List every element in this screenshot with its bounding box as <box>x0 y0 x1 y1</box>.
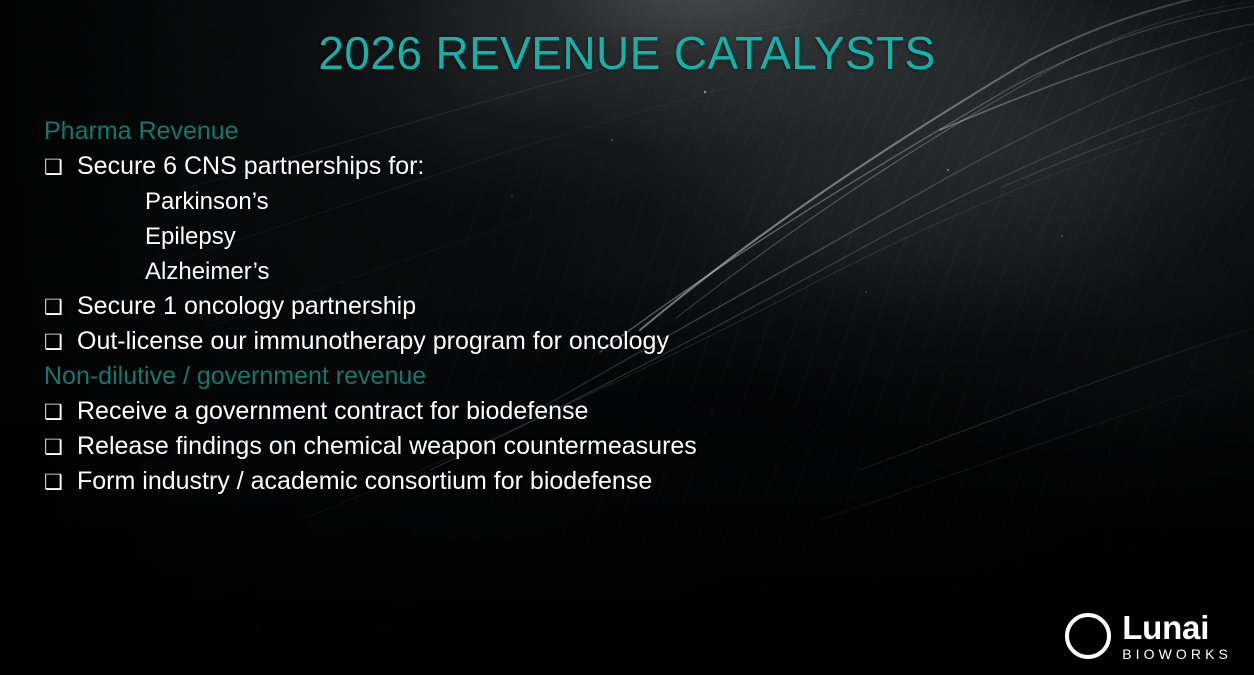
checkbox-square-icon: ❑ <box>44 465 77 500</box>
bullet-item: ❑ Receive a government contract for biod… <box>44 394 904 429</box>
company-logo: Lunai BIOWORKS <box>1065 611 1232 661</box>
section-heading-pharma-revenue: Pharma Revenue <box>44 114 904 149</box>
bullet-label: Receive a government contract for biodef… <box>77 394 588 429</box>
sub-item: Epilepsy <box>44 219 904 254</box>
checkbox-square-icon: ❑ <box>44 395 77 430</box>
logo-company-name: Lunai <box>1122 611 1209 644</box>
checkbox-square-icon: ❑ <box>44 325 77 360</box>
checkbox-square-icon: ❑ <box>44 430 77 465</box>
slide-title: 2026 REVENUE CATALYSTS <box>0 26 1254 80</box>
logo-ring-icon <box>1065 613 1111 659</box>
bullet-label: Secure 6 CNS partnerships for: <box>77 149 424 184</box>
bullet-label: Secure 1 oncology partnership <box>77 289 416 324</box>
presentation-slide: 2026 REVENUE CATALYSTS Pharma Revenue ❑ … <box>0 0 1254 675</box>
sub-item: Parkinson’s <box>44 184 904 219</box>
checkbox-square-icon: ❑ <box>44 290 77 325</box>
checkbox-square-icon: ❑ <box>44 150 77 185</box>
bullet-label: Form industry / academic consortium for … <box>77 464 652 499</box>
bullet-label: Out-license our immunotherapy program fo… <box>77 324 669 359</box>
logo-company-subtitle: BIOWORKS <box>1122 647 1232 661</box>
slide-body: Pharma Revenue ❑ Secure 6 CNS partnershi… <box>44 114 904 499</box>
bullet-item: ❑ Secure 1 oncology partnership <box>44 289 904 324</box>
bullet-item: ❑ Out-license our immunotherapy program … <box>44 324 904 359</box>
logo-wordmark: Lunai BIOWORKS <box>1122 611 1232 661</box>
sub-item: Alzheimer’s <box>44 254 904 289</box>
bullet-label: Release findings on chemical weapon coun… <box>77 429 697 464</box>
bullet-item: ❑ Release findings on chemical weapon co… <box>44 429 904 464</box>
section-heading-non-dilutive-revenue: Non-dilutive / government revenue <box>44 359 904 394</box>
bullet-item: ❑ Form industry / academic consortium fo… <box>44 464 904 499</box>
redaction-marker-stroke <box>234 612 890 652</box>
bullet-item: ❑ Secure 6 CNS partnerships for: <box>44 149 904 184</box>
